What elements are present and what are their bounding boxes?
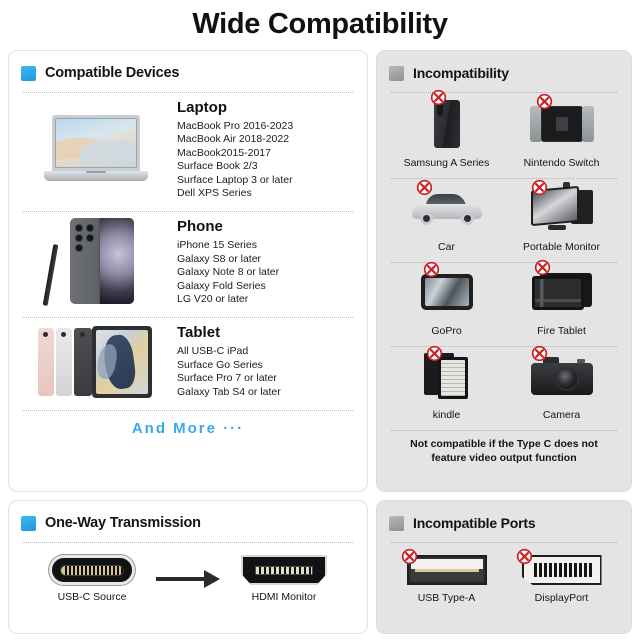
usb-c-source-label: USB-C Source xyxy=(58,591,127,603)
port-label: USB Type-A xyxy=(418,592,476,604)
red-x-icon xyxy=(536,93,553,110)
incompatibility-panel: Incompatibility xyxy=(376,50,632,492)
gray-square-icon xyxy=(389,516,404,531)
red-x-icon xyxy=(416,179,433,196)
device-model: Galaxy Tab S4 or later xyxy=(177,386,355,399)
red-x-icon xyxy=(401,548,418,565)
device-row-phone: Phone iPhone 15 Series Galaxy S8 or late… xyxy=(21,212,355,310)
device-model: MacBook Pro 2016-2023 xyxy=(177,120,355,133)
incompatible-ports-header: Incompatible Ports xyxy=(389,511,619,535)
incompatible-item-nintendo-switch: Nintendo Switch xyxy=(504,95,619,171)
device-name: Laptop xyxy=(177,99,355,116)
device-model: Surface Pro 7 or later xyxy=(177,372,355,385)
incompatibility-row: Car Portable Monitor xyxy=(389,179,619,255)
compact-camera-icon xyxy=(531,347,593,405)
blue-square-icon xyxy=(21,516,36,531)
tablet-image xyxy=(21,326,171,398)
device-model: Galaxy Fold Series xyxy=(177,280,355,293)
and-more-link[interactable]: And More ··· xyxy=(21,411,355,437)
usb-c-connector-icon xyxy=(49,555,135,585)
page-title: Wide Compatibility xyxy=(0,0,640,44)
device-row-laptop: Laptop MacBook Pro 2016-2023 MacBook Air… xyxy=(21,93,355,204)
device-model: Surface Book 2/3 xyxy=(177,160,355,173)
incompatible-item-car: Car xyxy=(389,179,504,255)
one-way-transmission-panel: One-Way Transmission USB-C Source HDMI M… xyxy=(8,500,368,634)
incompatible-item-samsung-a-series: Samsung A Series xyxy=(389,95,504,171)
smartphone-image xyxy=(21,218,171,306)
device-text-tablet: Tablet All USB-C iPad Surface Go Series … xyxy=(171,324,355,399)
device-text-phone: Phone iPhone 15 Series Galaxy S8 or late… xyxy=(171,218,355,306)
incompatible-item-label: Fire Tablet xyxy=(537,325,586,337)
incompatible-item-camera: Camera xyxy=(504,347,619,423)
device-text-laptop: Laptop MacBook Pro 2016-2023 MacBook Air… xyxy=(171,99,355,200)
usb-type-a-port-icon xyxy=(407,555,487,585)
device-model: Galaxy Note 8 or later xyxy=(177,266,355,279)
compatible-devices-title: Compatible Devices xyxy=(45,65,179,81)
blue-square-icon xyxy=(21,66,36,81)
portable-monitor-icon xyxy=(531,179,593,237)
hdmi-monitor-item: HDMI Monitor xyxy=(232,555,336,603)
red-x-icon xyxy=(430,89,447,106)
red-x-icon xyxy=(423,261,440,278)
port-label: DisplayPort xyxy=(535,592,589,604)
incompatible-item-label: Car xyxy=(438,241,455,253)
incompatible-item-label: GoPro xyxy=(431,325,461,337)
hdmi-monitor-label: HDMI Monitor xyxy=(252,591,317,603)
device-model: LG V20 or later xyxy=(177,293,355,306)
incompatible-item-label: Portable Monitor xyxy=(523,241,600,253)
red-x-icon xyxy=(516,548,533,565)
nintendo-switch-icon xyxy=(530,95,594,153)
arrow-right-icon xyxy=(156,570,220,588)
one-way-diagram: USB-C Source HDMI Monitor xyxy=(21,543,355,603)
red-x-icon xyxy=(426,345,443,362)
gopro-camera-icon xyxy=(421,263,473,321)
hdmi-connector-icon xyxy=(241,555,327,585)
red-x-icon xyxy=(531,179,548,196)
infographic-page: Wide Compatibility Compatible Devices xyxy=(0,0,640,642)
incompatibility-row: Samsung A Series Nintendo Switch xyxy=(389,95,619,171)
laptop-image xyxy=(21,115,171,185)
incompatible-item-portable-monitor: Portable Monitor xyxy=(504,179,619,255)
incompatibility-note: Not compatible if the Type C does not fe… xyxy=(389,431,619,465)
displayport-port-icon xyxy=(522,555,602,585)
incompatible-ports-panel: Incompatible Ports USB Type-A xyxy=(376,500,632,634)
one-way-transmission-header: One-Way Transmission xyxy=(21,511,355,535)
incompatibility-row: GoPro Fire Tablet xyxy=(389,263,619,339)
bottom-row: One-Way Transmission USB-C Source HDMI M… xyxy=(8,500,632,634)
incompatible-ports-list: USB Type-A DisplayPort xyxy=(389,543,619,604)
fire-tablet-icon xyxy=(532,263,592,321)
compatible-devices-panel: Compatible Devices Laptop MacBook P xyxy=(8,50,368,492)
red-x-icon xyxy=(534,259,551,276)
compatible-devices-header: Compatible Devices xyxy=(21,61,355,85)
incompatible-ports-title: Incompatible Ports xyxy=(413,515,535,531)
device-model: Surface Go Series xyxy=(177,359,355,372)
usb-c-source-item: USB-C Source xyxy=(40,555,144,603)
incompatible-item-kindle: kindle xyxy=(389,347,504,423)
device-model: MacBook Air 2018-2022 xyxy=(177,133,355,146)
incompatible-item-label: Samsung A Series xyxy=(404,157,490,169)
incompatible-item-fire-tablet: Fire Tablet xyxy=(504,263,619,339)
port-item-usb-type-a: USB Type-A xyxy=(407,555,487,604)
samsung-a-series-phone-icon xyxy=(434,95,460,153)
incompatibility-title: Incompatibility xyxy=(413,65,509,81)
incompatible-item-gopro: GoPro xyxy=(389,263,504,339)
incompatible-item-label: kindle xyxy=(433,409,460,421)
device-model: All USB-C iPad xyxy=(177,345,355,358)
incompatible-item-label: Nintendo Switch xyxy=(524,157,600,169)
incompatibility-header: Incompatibility xyxy=(389,61,619,85)
incompatibility-grid: Samsung A Series Nintendo Switch xyxy=(389,93,619,465)
port-item-displayport: DisplayPort xyxy=(522,555,602,604)
incompatibility-row: kindle Camera xyxy=(389,347,619,423)
kindle-ereader-icon xyxy=(424,347,470,405)
device-name: Tablet xyxy=(177,324,355,341)
device-row-tablet: Tablet All USB-C iPad Surface Go Series … xyxy=(21,318,355,403)
car-icon xyxy=(412,179,482,237)
red-x-icon xyxy=(531,345,548,362)
gray-square-icon xyxy=(389,66,404,81)
panel-grid: Compatible Devices Laptop MacBook P xyxy=(8,50,632,634)
incompatible-item-label: Camera xyxy=(543,409,580,421)
top-row: Compatible Devices Laptop MacBook P xyxy=(8,50,632,492)
device-model: Surface Laptop 3 or later xyxy=(177,174,355,187)
device-model: MacBook2015-2017 xyxy=(177,147,355,160)
one-way-transmission-title: One-Way Transmission xyxy=(45,515,201,531)
device-model: Dell XPS Series xyxy=(177,187,355,200)
device-model: iPhone 15 Series xyxy=(177,239,355,252)
device-name: Phone xyxy=(177,218,355,235)
device-model: Galaxy S8 or later xyxy=(177,253,355,266)
